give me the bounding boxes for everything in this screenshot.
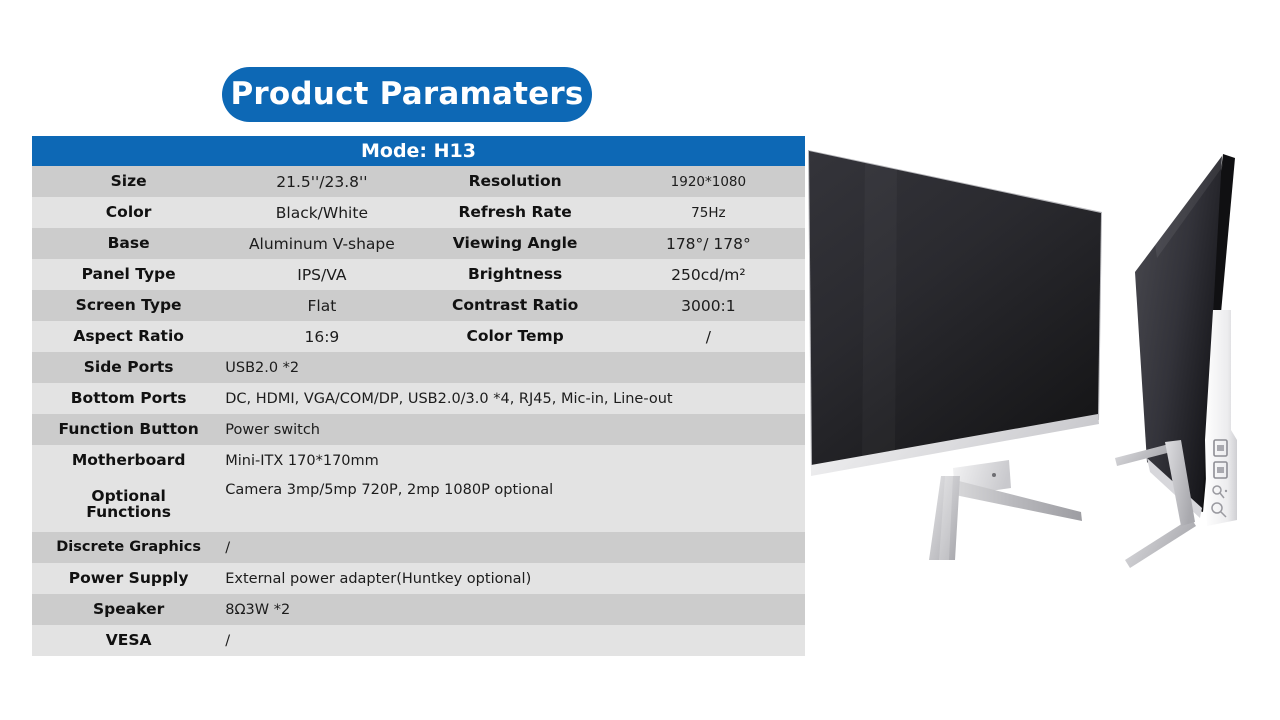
spec-value: / [612, 321, 805, 352]
spec-value: 75Hz [612, 197, 805, 228]
spec-label: Bottom Ports [32, 383, 225, 414]
spec-label: Size [32, 166, 225, 197]
table-row: Motherboard Mini-ITX 170*170mm [32, 445, 805, 476]
table-row: Optional Functions Camera 3mp/5mp 720P, … [32, 476, 805, 532]
table-row: Side Ports USB2.0 *2 [32, 352, 805, 383]
spec-value: 3000:1 [612, 290, 805, 321]
product-image-group [805, 120, 1280, 590]
spec-label: Resolution [419, 166, 612, 197]
table-row: Panel Type IPS/VA Brightness 250cd/m² [32, 259, 805, 290]
table-row: Bottom Ports DC, HDMI, VGA/COM/DP, USB2.… [32, 383, 805, 414]
table-row: Speaker 8Ω3W *2 [32, 594, 805, 625]
spec-label: Power Supply [32, 563, 225, 594]
spec-value: 8Ω3W *2 [225, 594, 805, 625]
page-title: Product Paramaters [231, 79, 584, 110]
spec-label: Side Ports [32, 352, 225, 383]
spec-label: Aspect Ratio [32, 321, 225, 352]
table-row: Screen Type Flat Contrast Ratio 3000:1 [32, 290, 805, 321]
monitor-front-image [805, 120, 1135, 560]
spec-label: Speaker [32, 594, 225, 625]
spec-value: External power adapter(Huntkey optional) [225, 563, 805, 594]
table-row: Aspect Ratio 16:9 Color Temp / [32, 321, 805, 352]
spec-label: Optional Functions [32, 476, 225, 532]
spec-value: USB2.0 *2 [225, 352, 805, 383]
table-row: VESA / [32, 625, 805, 656]
spec-value: Flat [225, 290, 418, 321]
spec-label: Brightness [419, 259, 612, 290]
monitor-side-image [1095, 140, 1280, 570]
spec-value: 1920*1080 [612, 166, 805, 197]
usb-port-icon-inner [1217, 445, 1224, 451]
spec-label-line-2: Functions [32, 504, 225, 520]
model-header-cell: Mode: H13 [32, 136, 805, 166]
spec-value: / [225, 532, 805, 563]
screen-reflection [862, 160, 897, 458]
table-row: Discrete Graphics / [32, 532, 805, 563]
spec-value: 16:9 [225, 321, 418, 352]
stand-leg-right [955, 480, 1082, 521]
spec-value: Power switch [225, 414, 805, 445]
spec-label: VESA [32, 625, 225, 656]
table-row: Base Aluminum V-shape Viewing Angle 178°… [32, 228, 805, 259]
spec-label: Discrete Graphics [32, 532, 225, 563]
table-row: Color Black/White Refresh Rate 75Hz [32, 197, 805, 228]
spec-label: Function Button [32, 414, 225, 445]
jack-separator-dot [1225, 490, 1227, 492]
spec-label: Motherboard [32, 445, 225, 476]
spec-label: Panel Type [32, 259, 225, 290]
product-spec-table: Mode: H13 Size 21.5''/23.8'' Resolution … [32, 136, 805, 656]
spec-value: / [225, 625, 805, 656]
spec-value: 21.5''/23.8'' [225, 166, 418, 197]
table-header-row: Mode: H13 [32, 136, 805, 166]
spec-value: DC, HDMI, VGA/COM/DP, USB2.0/3.0 *4, RJ4… [225, 383, 805, 414]
spec-value: Camera 3mp/5mp 720P, 2mp 1080P optional [225, 476, 805, 532]
spec-label: Color [32, 197, 225, 228]
spec-value: Mini-ITX 170*170mm [225, 445, 805, 476]
spec-value: 250cd/m² [612, 259, 805, 290]
table-row: Size 21.5''/23.8'' Resolution 1920*1080 [32, 166, 805, 197]
stand-foot-front [1125, 518, 1196, 568]
page-title-banner: Product Paramaters [222, 67, 592, 122]
spec-value: Black/White [225, 197, 418, 228]
spec-label: Screen Type [32, 290, 225, 321]
spec-value: Aluminum V-shape [225, 228, 418, 259]
neck-screw-dot [992, 473, 996, 477]
spec-label: Refresh Rate [419, 197, 612, 228]
spec-label: Contrast Ratio [419, 290, 612, 321]
spec-value: 178°/ 178° [612, 228, 805, 259]
spec-label: Base [32, 228, 225, 259]
table-row: Power Supply External power adapter(Hunt… [32, 563, 805, 594]
spec-label-line-1: Optional [32, 488, 225, 504]
spec-label: Viewing Angle [419, 228, 612, 259]
spec-value: IPS/VA [225, 259, 418, 290]
spec-label: Color Temp [419, 321, 612, 352]
monitor-panel [808, 150, 1102, 476]
table-row: Function Button Power switch [32, 414, 805, 445]
panel-screen [809, 151, 1101, 467]
usb-port-icon-inner [1217, 467, 1224, 473]
